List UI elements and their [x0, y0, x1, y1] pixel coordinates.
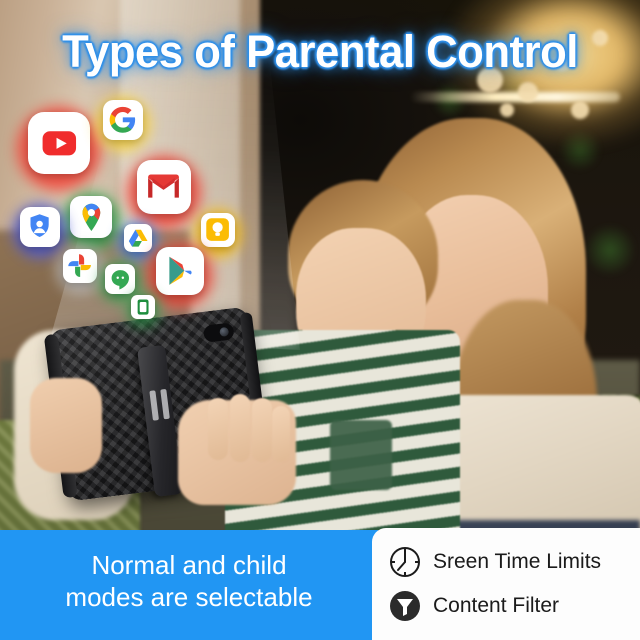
google-drive-app-icon-tile[interactable] [124, 224, 152, 252]
google-play-app-icon[interactable] [156, 247, 204, 295]
feature-label-screen-time-limits: Sreen Time Limits [433, 550, 601, 574]
bottom-bar: Normal and child modes are selectable [0, 528, 640, 640]
bokeh-light [571, 101, 589, 119]
finger-3 [252, 398, 272, 462]
feature-label-content-filter: Content Filter [433, 594, 559, 618]
google-app-icon-tile[interactable] [103, 100, 143, 140]
page-title: Types of Parental Control [10, 26, 631, 78]
google-photos-app-icon[interactable] [63, 249, 97, 283]
family-link-app-icon[interactable] [20, 207, 60, 247]
blue-message-line2: modes are selectable [65, 582, 312, 614]
youtube-app-icon-tile[interactable] [28, 112, 90, 174]
hangouts-app-icon-tile[interactable] [105, 264, 135, 294]
google-keep-app-icon-tile[interactable] [201, 213, 235, 247]
poster-canvas: Types of Parental Control Normal and chi… [0, 0, 640, 640]
blue-message-text: Normal and child modes are selectable [65, 550, 312, 619]
features-panel: Sreen Time Limits Content Filter [372, 528, 640, 640]
filter-icon [388, 589, 422, 623]
hangouts-app-icon[interactable] [105, 264, 135, 294]
finger-2 [230, 394, 250, 462]
clock-icon [388, 545, 422, 579]
google-play-app-icon-tile[interactable] [156, 247, 204, 295]
feature-screen-time-limits: Sreen Time Limits [388, 545, 640, 579]
bokeh-light [500, 103, 514, 117]
gmail-app-icon[interactable] [137, 160, 191, 214]
gmail-app-icon-tile[interactable] [137, 160, 191, 214]
green-note-app-icon-tile[interactable] [131, 295, 155, 319]
google-photos-app-icon-tile[interactable] [63, 249, 97, 283]
finger-1 [208, 398, 228, 460]
boy-shirt-pocket [330, 420, 392, 490]
green-note-app-icon[interactable] [131, 295, 155, 319]
google-maps-app-icon[interactable] [70, 196, 112, 238]
bokeh-light [518, 82, 538, 102]
youtube-app-icon[interactable] [28, 112, 90, 174]
google-keep-app-icon[interactable] [201, 213, 235, 247]
feature-content-filter: Content Filter [388, 589, 640, 623]
google-app-icon[interactable] [103, 100, 143, 140]
family-link-app-icon-tile[interactable] [20, 207, 60, 247]
lamp-bar [410, 92, 620, 102]
blue-message-panel: Normal and child modes are selectable [0, 530, 378, 640]
finger-4 [272, 406, 290, 462]
google-maps-app-icon-tile[interactable] [70, 196, 112, 238]
boy-left-hand [30, 378, 102, 473]
google-drive-app-icon[interactable] [124, 224, 152, 252]
blue-message-line1: Normal and child [65, 550, 312, 582]
